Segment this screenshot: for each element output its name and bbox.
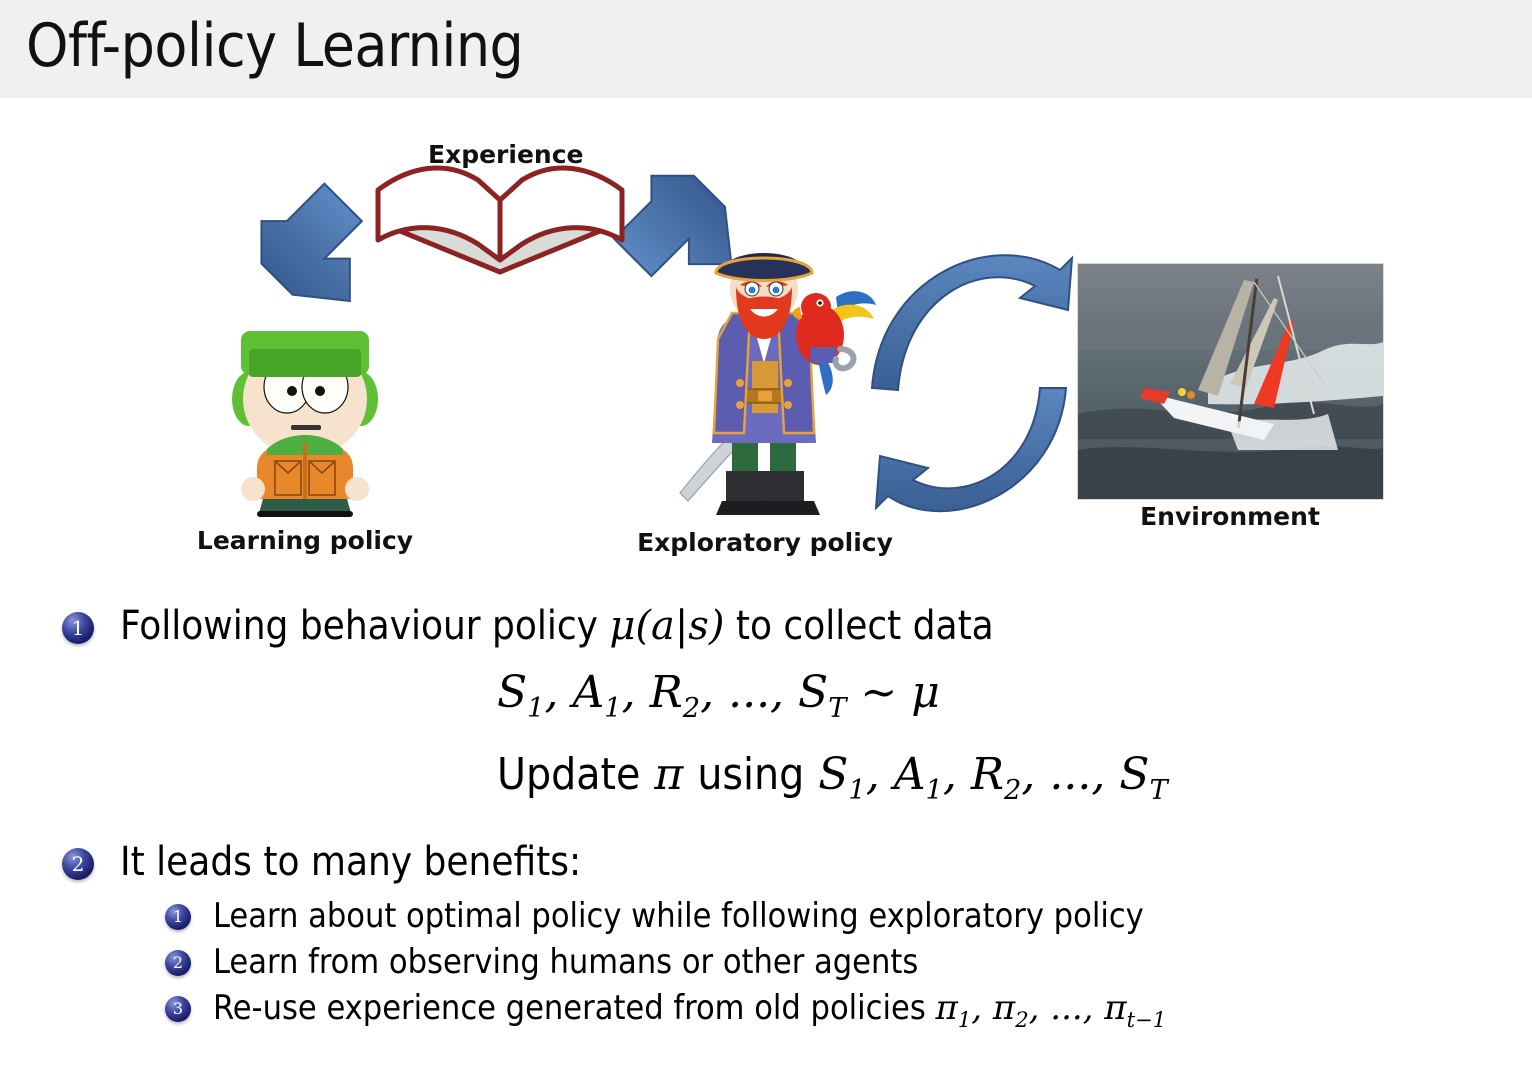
bullet-number-2: 2 bbox=[165, 950, 191, 976]
pirate-icon bbox=[640, 243, 890, 533]
text-pre: Following behaviour policy bbox=[120, 603, 609, 649]
list-item-text: It leads to many benefits: bbox=[120, 836, 581, 888]
page-title: Off-policy Learning bbox=[26, 10, 523, 82]
cartoon-boy-icon bbox=[205, 303, 405, 518]
list-item: 1 Learn about optimal policy while follo… bbox=[165, 894, 1532, 939]
list-item-text: Re-use experience generated from old pol… bbox=[213, 986, 1166, 1042]
list-item-text: Learn about optimal policy while followi… bbox=[213, 894, 1144, 939]
text-post: to collect data bbox=[724, 603, 993, 649]
bullet-number-3: 3 bbox=[165, 996, 191, 1022]
label-learning-policy: Learning policy bbox=[185, 526, 425, 555]
list-item: 3 Re-use experience generated from old p… bbox=[165, 986, 1532, 1042]
label-exploratory-policy: Exploratory policy bbox=[620, 528, 910, 557]
diagram-area: Experience Learning policy bbox=[0, 98, 1532, 598]
sailboat-photo bbox=[1077, 263, 1384, 500]
arrow-cycle-bottom bbox=[876, 388, 1066, 511]
list-item: 2 It leads to many benefits: bbox=[62, 836, 1532, 888]
equation-line-1: S1, A1, R2, ..., ST ∼ μ bbox=[497, 662, 1532, 740]
bullet-list: 1 Following behaviour policy μ(a|s) to c… bbox=[0, 600, 1532, 1042]
arrow-cycle-top bbox=[872, 255, 1072, 390]
equation-line-2: Update π using S1, A1, R2, ..., ST bbox=[497, 744, 1532, 822]
open-book-icon bbox=[370, 160, 630, 290]
list-item-text: Learn from observing humans or other age… bbox=[213, 940, 918, 985]
label-environment: Environment bbox=[1100, 502, 1360, 531]
bullet-number-2: 2 bbox=[62, 848, 94, 880]
bullet-number-1: 1 bbox=[165, 904, 191, 930]
list-item: 1 Following behaviour policy μ(a|s) to c… bbox=[62, 600, 1532, 652]
math-mu-a-s: μ(a|s) bbox=[609, 603, 724, 649]
list-item-text: Following behaviour policy μ(a|s) to col… bbox=[120, 600, 994, 652]
bullet-number-1: 1 bbox=[62, 612, 94, 644]
list-item: 2 Learn from observing humans or other a… bbox=[165, 940, 1532, 985]
